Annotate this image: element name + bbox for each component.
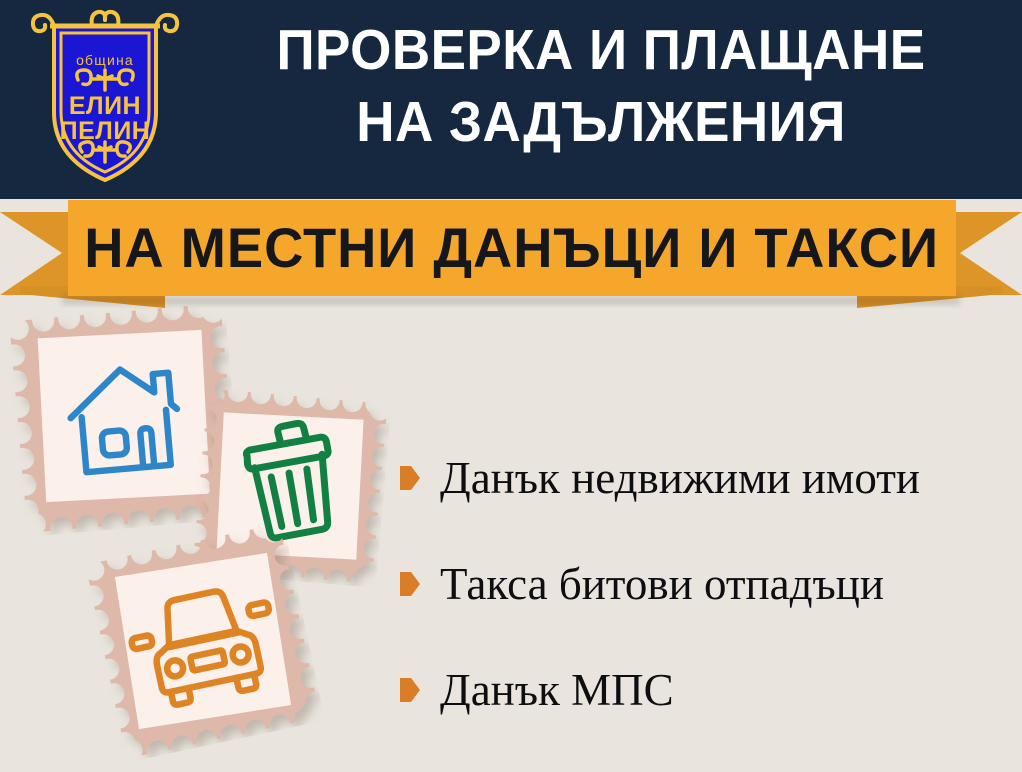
header-content: община ЕЛИН ПЕЛИН — [0, 0, 1022, 199]
list-item: Данък МПС — [400, 637, 1010, 743]
vehicle-stamp — [81, 519, 325, 763]
logo-line-main-1: ЕЛИН — [69, 92, 141, 120]
ribbon-banner: НА МЕСТНИ ДАНЪЦИ И ТАКСИ — [0, 198, 1022, 310]
bullet-arrow-icon — [400, 678, 420, 702]
coat-of-arms-icon: община ЕЛИН ПЕЛИН — [30, 8, 180, 188]
poster-title: ПРОВЕРКА И ПЛАЩАНЕ НА ЗАДЪЛЖЕНИЯ — [190, 14, 1012, 158]
ribbon-band: НА МЕСТНИ ДАНЪЦИ И ТАКСИ — [68, 200, 956, 296]
municipality-logo: община ЕЛИН ПЕЛИН — [30, 8, 180, 188]
list-item-label: Данък недвижими имоти — [440, 453, 920, 503]
logo-line-small: община — [76, 52, 134, 68]
ribbon-label: НА МЕСТНИ ДАНЪЦИ И ТАКСИ — [85, 220, 940, 276]
list-item: Данък недвижими имоти — [400, 425, 1010, 531]
list-item-label: Данък МПС — [440, 665, 674, 715]
list-item: Такса битови отпадъци — [400, 531, 1010, 637]
ribbon-drop-shadow — [62, 296, 960, 305]
bullet-arrow-icon — [400, 572, 420, 596]
list-item-label: Такса битови отпадъци — [440, 559, 884, 609]
poster-canvas: община ЕЛИН ПЕЛИН — [0, 0, 1022, 772]
vehicle-stamp-graphic — [81, 519, 325, 763]
title-line-1: ПРОВЕРКА И ПЛАЩАНЕ — [219, 14, 983, 86]
bullet-arrow-icon — [400, 466, 420, 490]
tax-type-list: Данък недвижими имоти Такса битови отпад… — [400, 425, 1010, 743]
title-line-2: НА ЗАДЪЛЖЕНИЯ — [219, 86, 983, 158]
